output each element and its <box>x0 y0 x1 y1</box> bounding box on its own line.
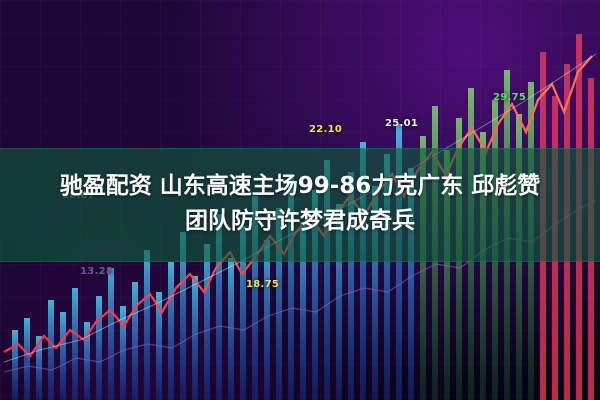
chart-annotation-13-28: 13.28 <box>80 266 113 277</box>
chart-annotation-25-01: 25.01 <box>385 118 418 129</box>
chart-annotation-22-10: 22.10 <box>309 124 342 135</box>
image-canvas: 29.75 25.01 22.10 18.75 10.07 13.28 驰盈配资… <box>0 0 600 400</box>
headline-line-2: 团队防守许梦君成奇兵 <box>185 207 415 236</box>
chart-annotation-29-75: 29.75 <box>493 92 526 103</box>
chart-annotation-18-75: 18.75 <box>246 279 279 290</box>
headline-line-1: 驰盈配资 山东高速主场99-86力克广东 邱彪赞 <box>60 172 541 201</box>
headline-banner: 驰盈配资 山东高速主场99-86力克广东 邱彪赞 团队防守许梦君成奇兵 <box>0 150 600 258</box>
